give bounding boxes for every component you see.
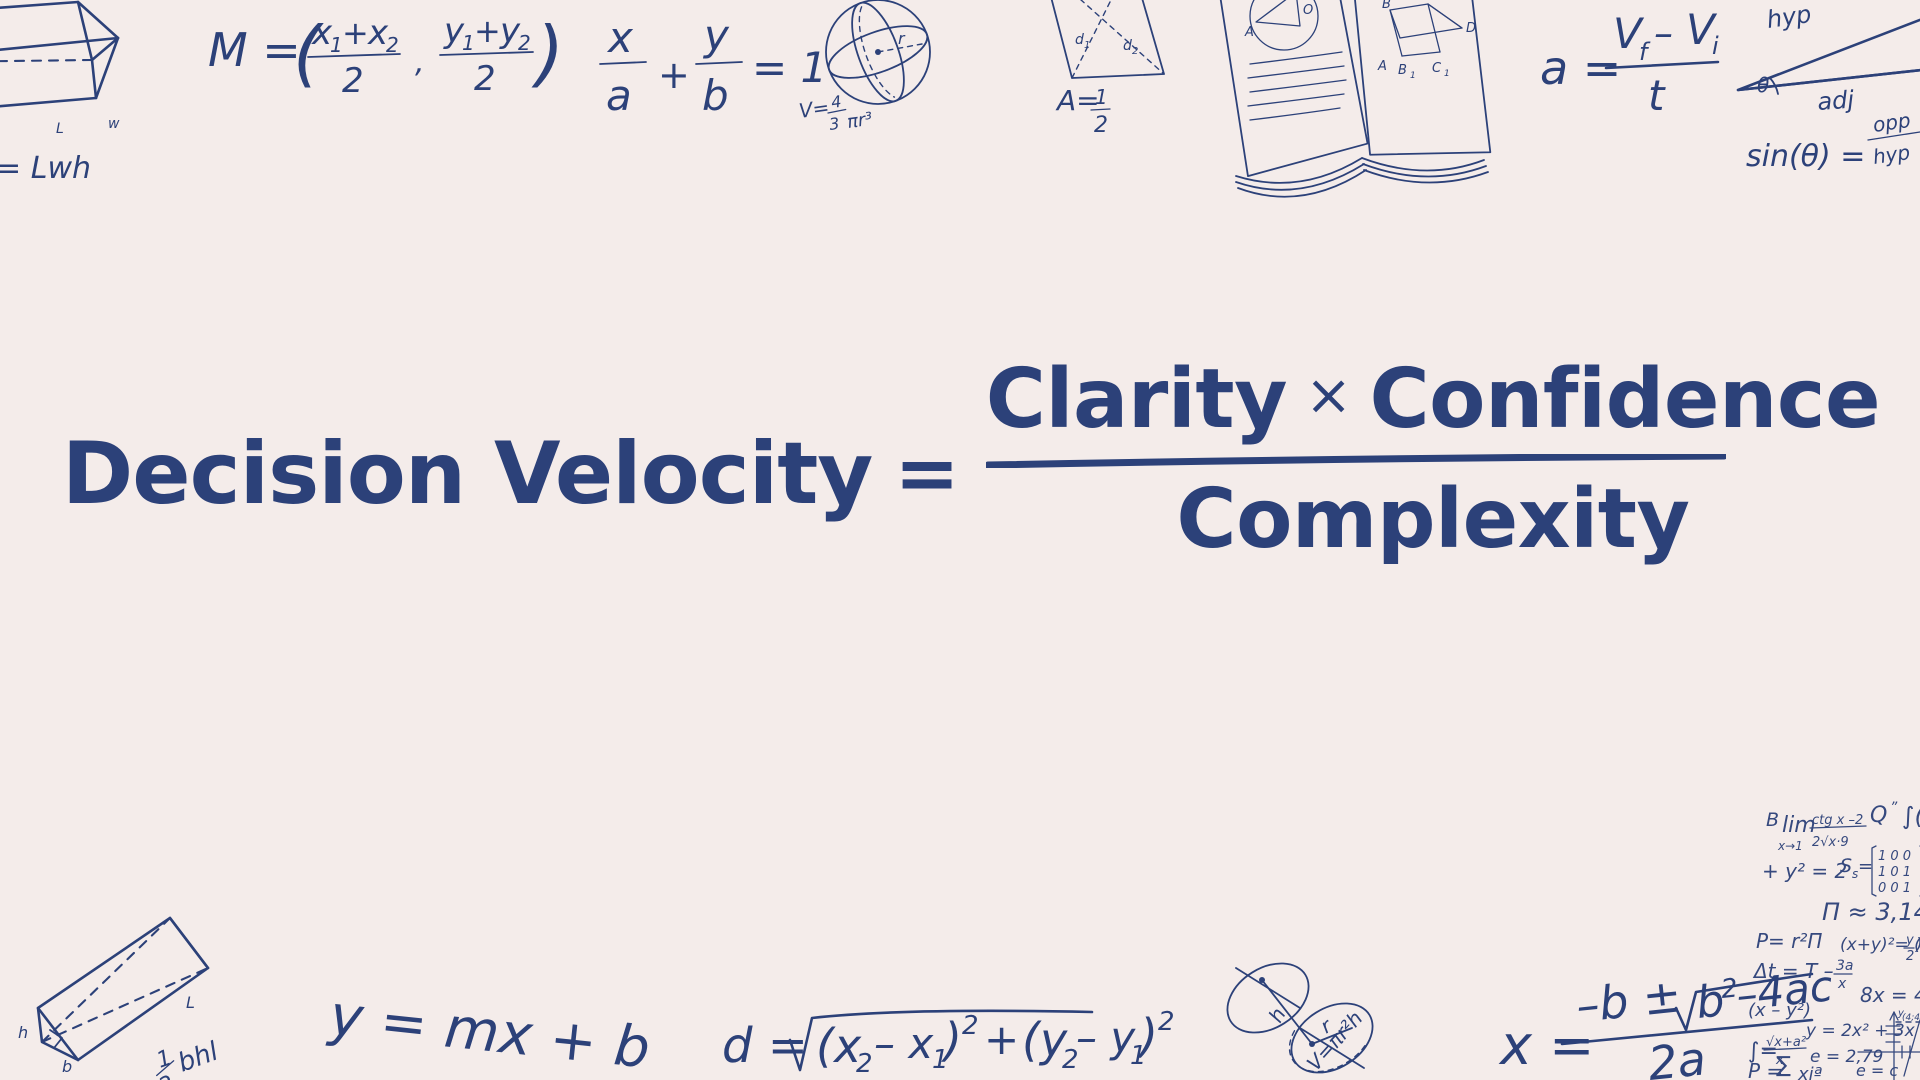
sphere-doodle: r V= 4 3 πr³ (797, 0, 933, 134)
svg-text:+: + (342, 14, 369, 52)
acceleration-formula-doodle: a = V f – V i t (1540, 5, 1719, 120)
svg-text:B: B (1766, 809, 1779, 831)
svg-text:2: 2 (1094, 113, 1108, 138)
svg-text:∫(x±: ∫(x± (1902, 802, 1920, 830)
svg-text:D: D (1466, 21, 1476, 36)
svg-text:3a: 3a (1836, 958, 1854, 974)
svg-text:2√x·9: 2√x·9 (1812, 835, 1849, 850)
svg-text:M =: M = (208, 23, 301, 77)
svg-text:d: d (1123, 38, 1132, 54)
svg-text:s: s (1852, 867, 1858, 881)
svg-text:(: ( (293, 11, 324, 95)
svg-text:f: f (1639, 38, 1651, 66)
svg-text:0 0 1: 0 0 1 (1878, 881, 1911, 896)
svg-text:θ: θ (1757, 73, 1769, 97)
svg-text:Π ≈ 3,1415: Π ≈ 3,1415 (1822, 898, 1920, 926)
svg-text:x: x (1775, 1053, 1784, 1068)
svg-text:a: a (606, 71, 632, 120)
svg-text:2: 2 (962, 1011, 979, 1041)
svg-text:1: 1 (932, 1045, 949, 1075)
quadrilateral-doodle: d 1 d 2 A= 1 2 (1043, 0, 1164, 138)
svg-text:3: 3 (828, 114, 841, 134)
svg-text:y: y (443, 11, 465, 51)
svg-text:e = c: e = c (1856, 1061, 1898, 1080)
svg-text:Q: Q (1870, 803, 1887, 828)
svg-text:): ) (941, 1013, 962, 1067)
svg-text:2: 2 (1906, 949, 1914, 964)
svg-text:∫=: ∫= (1748, 1039, 1778, 1064)
svg-text:e = 2,79: e = 2,79 (1810, 1047, 1883, 1067)
svg-text:+ y² = 2: + y² = 2 (1762, 859, 1847, 883)
svg-text:+: + (658, 53, 690, 97)
svg-text:t: t (1648, 71, 1666, 120)
svg-text:B: B (1398, 63, 1407, 78)
svg-text:d: d (1075, 32, 1084, 48)
svg-text:y: y (702, 11, 730, 60)
svg-text:S: S (1840, 855, 1852, 877)
svg-text:x: x (367, 13, 389, 53)
svg-text:1: 1 (1095, 85, 1108, 109)
numerator-term-confidence: Confidence (1369, 354, 1880, 446)
svg-text:(4;4): (4;4) (1902, 1013, 1920, 1023)
svg-text:opp: opp (1871, 108, 1912, 137)
svg-text:C: C (1423, 0, 1433, 2)
svg-text:V=: V= (797, 95, 830, 123)
intercept-form-doodle: x a + y b = 1 (600, 11, 827, 120)
equation-denominator: Complexity (1176, 474, 1689, 566)
svg-text:(x – y²): (x – y²) (1748, 1000, 1811, 1021)
svg-text:a =: a = (1540, 41, 1621, 95)
svg-text:hyp: hyp (1871, 140, 1911, 169)
svg-text:=: = (1858, 856, 1873, 877)
equation-left-side: Decision Velocity (40, 431, 872, 517)
svg-text:h: h (18, 1023, 28, 1042)
svg-text:A=: A= (1055, 84, 1100, 117)
svg-text:2: 2 (1720, 973, 1740, 1005)
svg-text:(y: (y (1022, 1013, 1068, 1067)
svg-text:2: 2 (1062, 1045, 1079, 1075)
svg-text:1: 1 (1410, 71, 1416, 81)
svg-text:V = Lwh: V = Lwh (0, 151, 91, 186)
svg-text:b: b (62, 1057, 72, 1076)
open-book-doodle: A O B C D A B 1 C (1214, 0, 1490, 197)
svg-text:– y: – y (1076, 1013, 1136, 1062)
svg-text:P =: P = (1748, 1059, 1783, 1080)
svg-text:y: y (1897, 1008, 1905, 1019)
svg-text:y = 2x² + 3x: y = 2x² + 3x (1805, 1021, 1916, 1041)
svg-text:2: 2 (386, 33, 399, 57)
doodle-layer: L w V = Lwh M = ( x 1 + x 2 2 , y 1 + y … (0, 0, 1920, 1080)
svg-text:(x: (x (816, 1019, 862, 1073)
svg-text:bhl: bhl (174, 1036, 223, 1078)
svg-text:√x+a²: √x+a² (1766, 1035, 1806, 1050)
quadratic-formula-doodle: x = –b ± b 2 –4ac 2a (1498, 961, 1835, 1080)
svg-text:)²: )² (1914, 935, 1920, 955)
corner-scribbles-doodle: B lim x→1 ctg x –2 2√x·9 Q ” ∫(x± + y² =… (1748, 800, 1920, 1080)
svg-text:1: 1 (462, 31, 475, 55)
svg-text:ctg x –2: ctg x –2 (1812, 813, 1863, 828)
svg-text:sin(θ) =: sin(θ) = (1746, 139, 1865, 174)
svg-text:–: – (1654, 11, 1673, 55)
svg-text:Δt = T –: Δt = T – (1752, 959, 1834, 983)
svg-text:4: 4 (830, 92, 843, 112)
svg-text:V: V (1613, 9, 1645, 58)
svg-text:A: A (1244, 25, 1254, 40)
svg-text:y: y (499, 11, 521, 51)
svg-text:2: 2 (342, 61, 364, 101)
svg-text:y: y (1905, 933, 1914, 948)
svg-text:): ) (1137, 1009, 1158, 1063)
svg-text:x =: x = (1498, 1014, 1594, 1077)
svg-text:h: h (1264, 1004, 1291, 1027)
svg-text:V: V (1686, 5, 1718, 54)
svg-text:1: 1 (154, 1045, 176, 1073)
svg-text:): ) (531, 11, 564, 95)
svg-text:1: 1 (1130, 1041, 1147, 1071)
svg-text:1 0 1: 1 0 1 (1878, 865, 1911, 880)
svg-text:r: r (898, 29, 906, 48)
rectangular-prism-doodle: L w V = Lwh (0, 2, 120, 186)
svg-text:r: r (1316, 1013, 1337, 1039)
whiteboard-canvas: L w V = Lwh M = ( x 1 + x 2 2 , y 1 + y … (0, 0, 1920, 1080)
svg-text:(x+y)²= (: (x+y)²= ( (1840, 935, 1920, 955)
svg-text:∑: ∑ (1776, 1053, 1791, 1078)
svg-text:1: 1 (330, 33, 343, 57)
fraction-bar (986, 454, 1880, 468)
svg-text:lim: lim (1782, 813, 1816, 838)
svg-text:,: , (415, 45, 425, 80)
svg-text:x: x (606, 13, 634, 62)
svg-text:1 0 0: 1 0 0 (1878, 849, 1911, 864)
svg-text:1: 1 (1444, 69, 1450, 79)
svg-text:πr³: πr³ (846, 109, 874, 133)
svg-text:adj: adj (1816, 85, 1855, 116)
svg-text:+: + (984, 1015, 1019, 1064)
svg-text:x: x (311, 13, 333, 53)
svg-text:L: L (56, 121, 64, 137)
svg-text:i: i (1712, 32, 1719, 60)
distance-formula-doodle: d = (x 2 – x 1 ) 2 + (y 2 – y 1 ) 2 (722, 1007, 1175, 1079)
svg-text:2a: 2a (1646, 1031, 1709, 1080)
svg-text:2: 2 (156, 1071, 178, 1080)
svg-text:A: A (1377, 59, 1387, 74)
svg-text:hyp: hyp (1765, 0, 1813, 34)
svg-text:b: b (702, 71, 729, 120)
svg-text:2: 2 (1132, 46, 1138, 57)
svg-text:”: ” (1890, 800, 1898, 816)
svg-text:L: L (186, 993, 195, 1012)
svg-text:– x: – x (874, 1019, 934, 1068)
svg-text:x: x (1837, 976, 1847, 992)
svg-text:xіª: xіª (1797, 1064, 1823, 1080)
svg-text:C: C (1432, 61, 1442, 76)
svg-text:2: 2 (474, 59, 496, 99)
svg-text:P= r²Π: P= r²Π (1756, 929, 1822, 953)
svg-text:d =: d = (722, 1018, 808, 1074)
cylinder-doodle: h r V=πr²h (1215, 949, 1385, 1080)
svg-text:2: 2 (856, 1049, 873, 1079)
svg-text:= 1: = 1 (752, 43, 827, 92)
equation-numerator: Clarity × Confidence (986, 354, 1880, 446)
svg-text:1: 1 (1084, 40, 1090, 51)
svg-text:+: + (474, 12, 501, 50)
triangular-prism-doodle: h b L 1 2 bhl (18, 918, 223, 1080)
svg-text:–b ±: –b ± (1574, 968, 1684, 1033)
svg-text:O: O (1303, 3, 1313, 18)
svg-text:x→1: x→1 (1777, 839, 1803, 853)
equation-equals-sign: = (872, 435, 985, 513)
multiplication-icon: × (1305, 365, 1351, 428)
svg-text:2: 2 (1158, 1007, 1175, 1037)
midpoint-formula-doodle: M = ( x 1 + x 2 2 , y 1 + y 2 2 ) (208, 11, 564, 101)
svg-text:V=πr²h: V=πr²h (1302, 1006, 1368, 1075)
svg-text:–4ac: –4ac (1734, 961, 1835, 1020)
svg-text:b: b (1694, 975, 1727, 1029)
right-triangle-trig-doodle: θ hyp adj opp hyp sin(θ) = (1738, 0, 1920, 174)
equation-fraction: Clarity × Confidence Complexity (986, 354, 1880, 566)
svg-text:8x = 4 –: 8x = 4 – (1860, 983, 1920, 1007)
svg-text:B: B (1382, 0, 1391, 12)
svg-text:y = mx + b: y = mx + b (325, 983, 653, 1080)
main-equation: Decision Velocity = Clarity × Confidence… (0, 300, 1920, 620)
numerator-term-clarity: Clarity (986, 354, 1287, 446)
svg-text:2: 2 (518, 31, 531, 55)
slope-intercept-doodle: y = mx + b (325, 983, 653, 1080)
svg-text:w: w (108, 116, 120, 132)
